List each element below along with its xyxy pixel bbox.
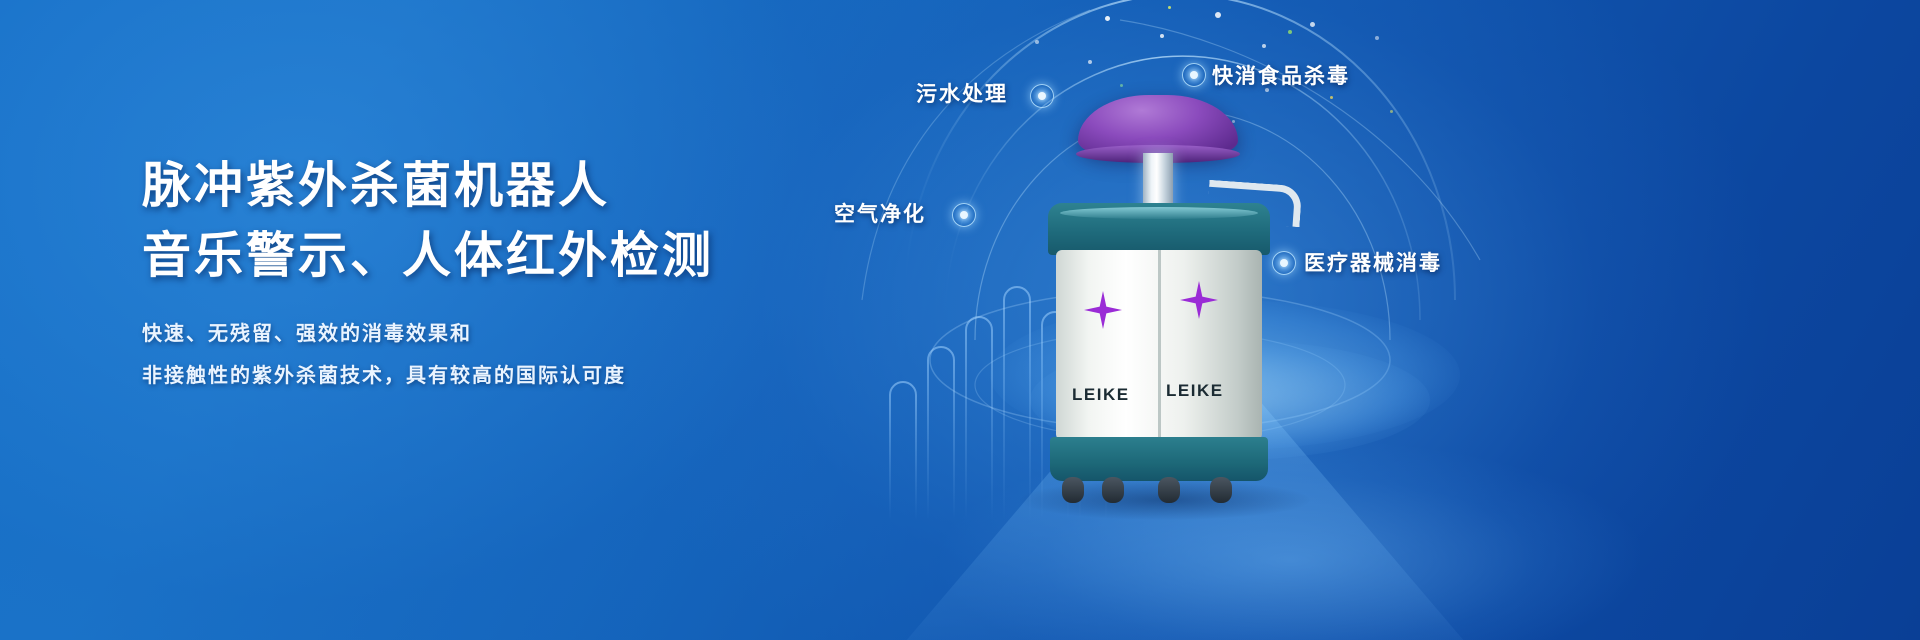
hero-text-block: 脉冲紫外杀菌机器人 音乐警示、人体红外检测 快速、无残留、强效的消毒效果和 非接… [142, 150, 862, 396]
robot-base-housing [1050, 437, 1268, 481]
caster-wheel [1062, 477, 1084, 503]
feature-label-waste-water: 污水处理 [916, 78, 1008, 108]
caster-wheel [1102, 477, 1124, 503]
node-dot-icon-air [952, 203, 976, 227]
caster-wheel [1158, 477, 1180, 503]
uv-star-icon-right [1180, 281, 1218, 319]
brand-logo-right: LEIKE [1166, 381, 1224, 401]
node-dot-icon-food [1182, 63, 1206, 87]
headline-line-2: 音乐警示、人体红外检测 [142, 220, 862, 290]
subtitle-line-1: 快速、无残留、强效的消毒效果和 [142, 312, 862, 354]
top-housing-highlight [1060, 207, 1258, 219]
product-hero-banner: 脉冲紫外杀菌机器人 音乐警示、人体红外检测 快速、无残留、强效的消毒效果和 非接… [0, 0, 1920, 640]
brand-logo-left: LEIKE [1072, 385, 1130, 405]
product-image-uv-robot: LEIKE LEIKE [1030, 95, 1290, 495]
subtitle-line-2: 非接触性的紫外杀菌技术，具有较高的国际认可度 [142, 354, 862, 396]
feature-label-medical-disinfection: 医疗器械消毒 [1304, 247, 1442, 277]
feature-label-food-sterilization: 快消食品杀毒 [1212, 60, 1350, 90]
panel-seam [1158, 250, 1161, 440]
headline-line-1: 脉冲紫外杀菌机器人 [142, 150, 862, 220]
uv-star-icon-left [1084, 291, 1122, 329]
feature-label-air-purification: 空气净化 [834, 198, 926, 228]
caster-wheel [1210, 477, 1232, 503]
